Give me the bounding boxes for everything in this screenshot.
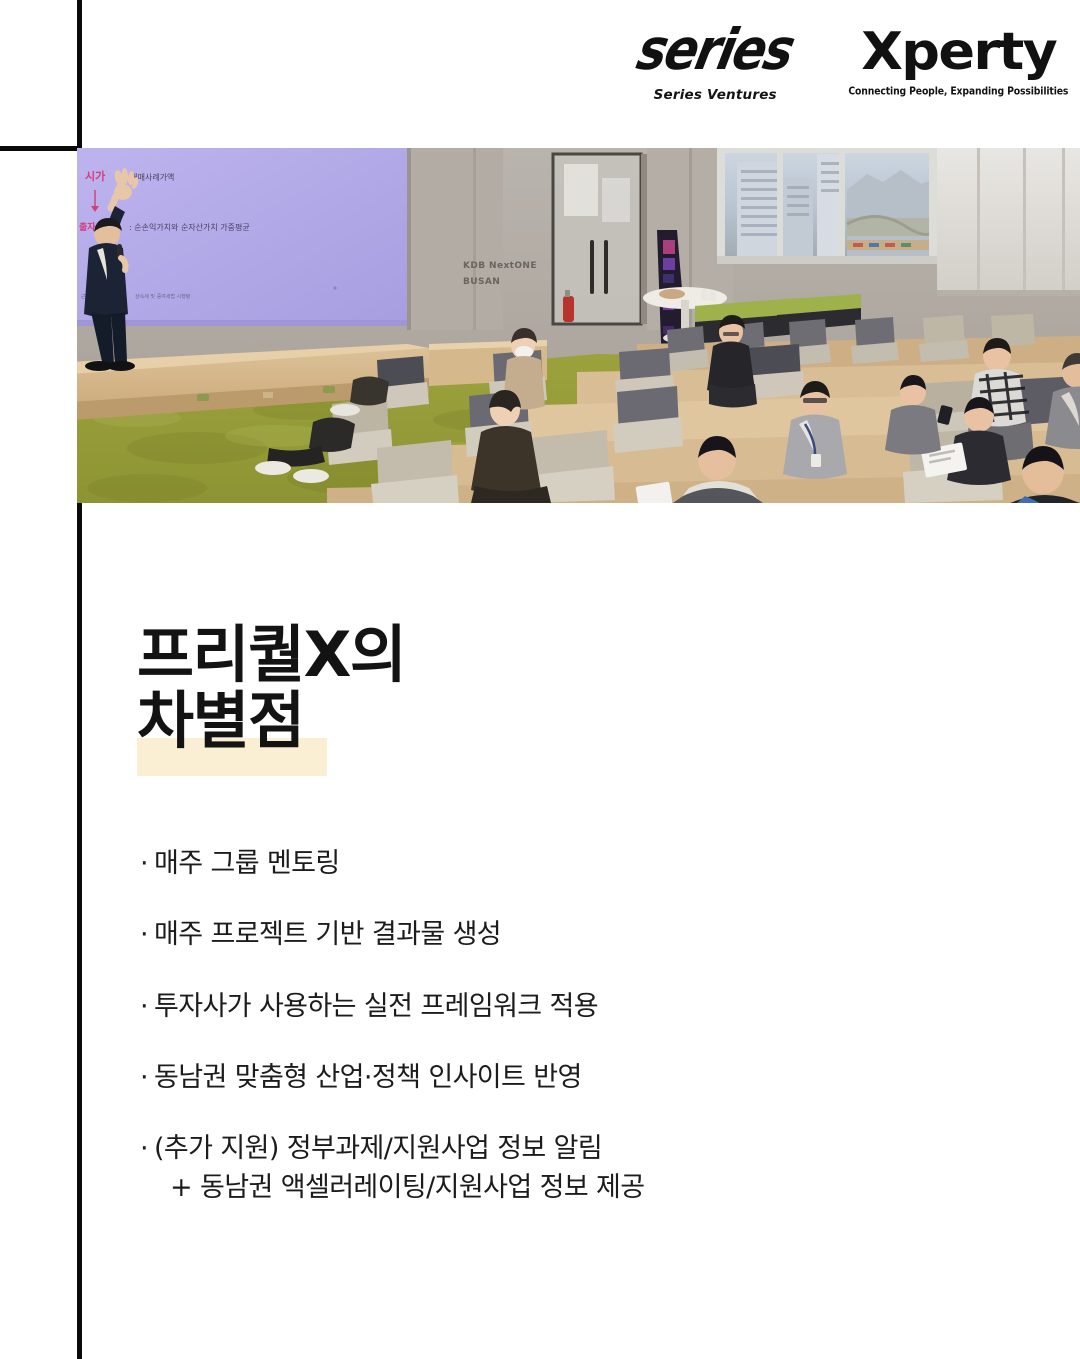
list-item: · 동남권 맞춤형 산업·정책 인사이트 반영 xyxy=(140,1059,940,1097)
svg-text:상속세 및 증여세법 시행령: 상속세 및 증여세법 시행령 xyxy=(135,293,190,300)
list-item-text: 매주 그룹 멘토링 xyxy=(154,848,340,879)
title-line-2-text: 차별점 xyxy=(137,684,304,757)
bullet-marker-icon: · xyxy=(140,988,154,1026)
list-item-body: 매주 그룹 멘토링 xyxy=(154,845,940,883)
title-line-1: 프리퀄X의 xyxy=(137,622,697,688)
bullet-marker-icon: · xyxy=(140,916,154,954)
series-logo: series Series Ventures xyxy=(640,26,790,103)
series-tagline: Series Ventures xyxy=(654,87,777,103)
poster-page: series Series Ventures Xperty Connecting… xyxy=(0,0,1080,1359)
xperty-logo: Xperty Connecting People, Expanding Poss… xyxy=(848,26,1068,97)
bullet-marker-icon: · xyxy=(140,1059,154,1097)
series-wordmark: series xyxy=(632,22,797,79)
seminar-photo: 시가 : 매매사례가액 출자 : 순손익가치와 순자산가치 가중평균 근거 법령… xyxy=(77,148,1080,503)
list-item: · 투자사가 사용하는 실전 프레임워크 적용 xyxy=(140,988,940,1026)
list-item-text: 동남권 맞춤형 산업·정책 인사이트 반영 xyxy=(154,1062,582,1093)
title-line-1-text: 프리퀄X의 xyxy=(137,618,405,691)
list-item: · 매주 프로젝트 기반 결과물 생성 xyxy=(140,916,940,954)
page-title: 프리퀄X의 차별점 xyxy=(137,622,697,755)
list-item-body: 매주 프로젝트 기반 결과물 생성 xyxy=(154,916,940,954)
svg-text:KDB NextONE: KDB NextONE xyxy=(463,261,537,271)
list-item-body: 투자사가 사용하는 실전 프레임워크 적용 xyxy=(154,988,940,1026)
list-item-text: 매주 프로젝트 기반 결과물 생성 xyxy=(154,919,501,950)
bullet-marker-icon: · xyxy=(140,1130,154,1168)
svg-text:출자: 출자 xyxy=(79,221,96,233)
list-item-text-continuation: + 동남권 액셀러레이팅/지원사업 정보 제공 xyxy=(154,1169,940,1207)
list-item: · (추가 지원) 정부과제/지원사업 정보 알림 + 동남권 액셀러레이팅/지… xyxy=(140,1130,940,1207)
svg-text:BUSAN: BUSAN xyxy=(463,277,500,287)
svg-text:시가: 시가 xyxy=(85,169,105,183)
list-item-text: 투자사가 사용하는 실전 프레임워크 적용 xyxy=(154,991,598,1022)
logo-bar: series Series Ventures Xperty Connecting… xyxy=(640,26,1060,124)
bullet-marker-icon: · xyxy=(140,845,154,883)
seminar-photo-illustration: 시가 : 매매사례가액 출자 : 순손익가치와 순자산가치 가중평균 근거 법령… xyxy=(77,148,1080,503)
svg-text:: 순손익가치와 순자산가치 가중평균: : 순손익가치와 순자산가치 가중평균 xyxy=(129,222,250,232)
list-item-body: (추가 지원) 정부과제/지원사업 정보 알림 + 동남권 액셀러레이팅/지원사… xyxy=(154,1130,940,1207)
horizontal-rule xyxy=(0,146,82,151)
list-item-body: 동남권 맞춤형 산업·정책 인사이트 반영 xyxy=(154,1059,940,1097)
list-item-text: (추가 지원) 정부과제/지원사업 정보 알림 xyxy=(154,1133,602,1164)
title-line-2: 차별점 xyxy=(137,688,697,754)
xperty-tagline: Connecting People, Expanding Possibiliti… xyxy=(848,85,1068,97)
xperty-wordmark: Xperty xyxy=(861,26,1056,78)
feature-list: · 매주 그룹 멘토링 · 매주 프로젝트 기반 결과물 생성 · 투자사가 사… xyxy=(140,845,940,1207)
list-item: · 매주 그룹 멘토링 xyxy=(140,845,940,883)
